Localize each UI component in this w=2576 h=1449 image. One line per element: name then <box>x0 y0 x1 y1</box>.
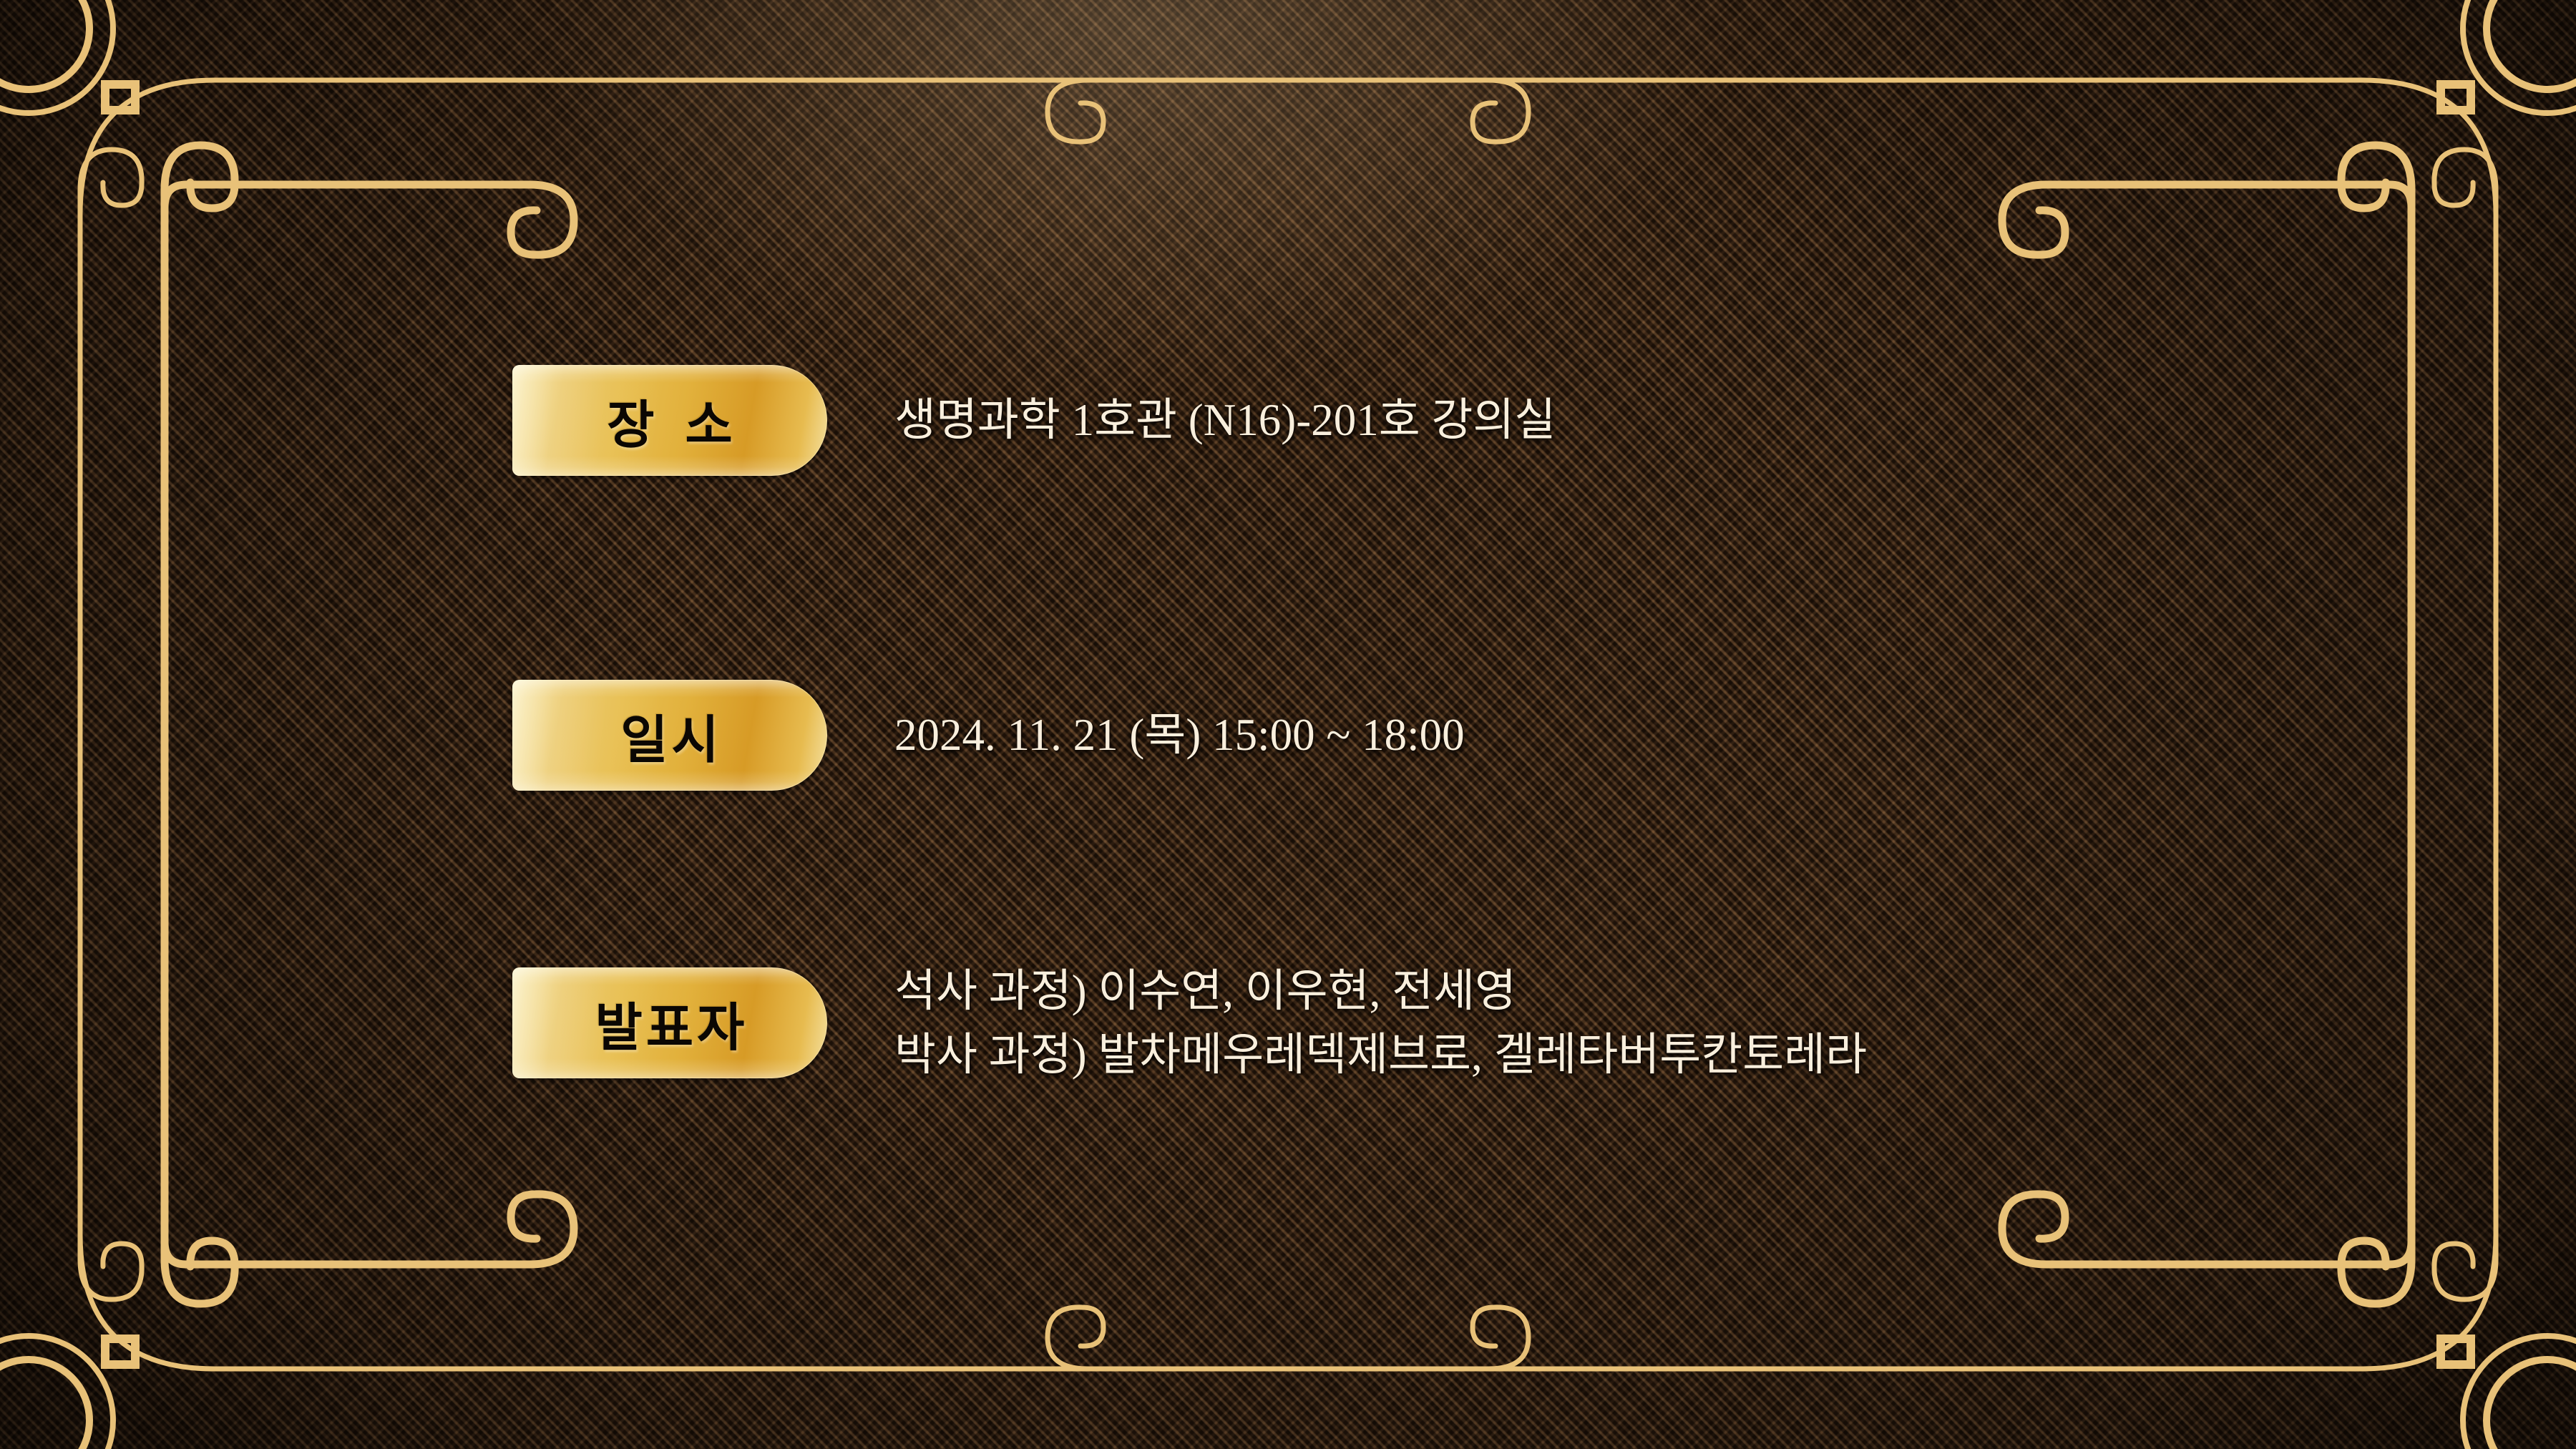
value-speakers-line-doctoral: 박사 과정) 발차메우레덱제브로, 겔레타버투칸토레라 <box>894 1033 1867 1078</box>
value-speakers: 석사 과정) 이수연, 이우현, 전세영 박사 과정) 발차메우레덱제브로, 겔… <box>894 969 1867 1078</box>
value-place: 생명과학 1호관 (N16)-201호 강의실 <box>894 398 1556 443</box>
label-badge-datetime-text: 일시 <box>512 680 827 791</box>
label-badge-place-text: 장 소 <box>512 365 827 476</box>
slide-content: 장 소 생명과학 1호관 (N16)-201호 강의실 일시 2024. 11.… <box>0 0 2576 1449</box>
info-row-speakers: 발표자 석사 과정) 이수연, 이우현, 전세영 박사 과정) 발차메우레덱제브… <box>512 967 1867 1078</box>
info-row-place: 장 소 생명과학 1호관 (N16)-201호 강의실 <box>512 365 1556 476</box>
label-badge-datetime: 일시 <box>512 680 827 791</box>
announcement-slide: 장 소 생명과학 1호관 (N16)-201호 강의실 일시 2024. 11.… <box>0 0 2576 1449</box>
value-datetime: 2024. 11. 21 (목) 15:00 ~ 18:00 <box>894 713 1465 758</box>
label-badge-speakers: 발표자 <box>512 967 827 1078</box>
label-badge-place: 장 소 <box>512 365 827 476</box>
label-badge-speakers-text: 발표자 <box>512 967 827 1078</box>
info-row-datetime: 일시 2024. 11. 21 (목) 15:00 ~ 18:00 <box>512 680 1465 791</box>
value-speakers-line-masters: 석사 과정) 이수연, 이우현, 전세영 <box>894 969 1867 1014</box>
